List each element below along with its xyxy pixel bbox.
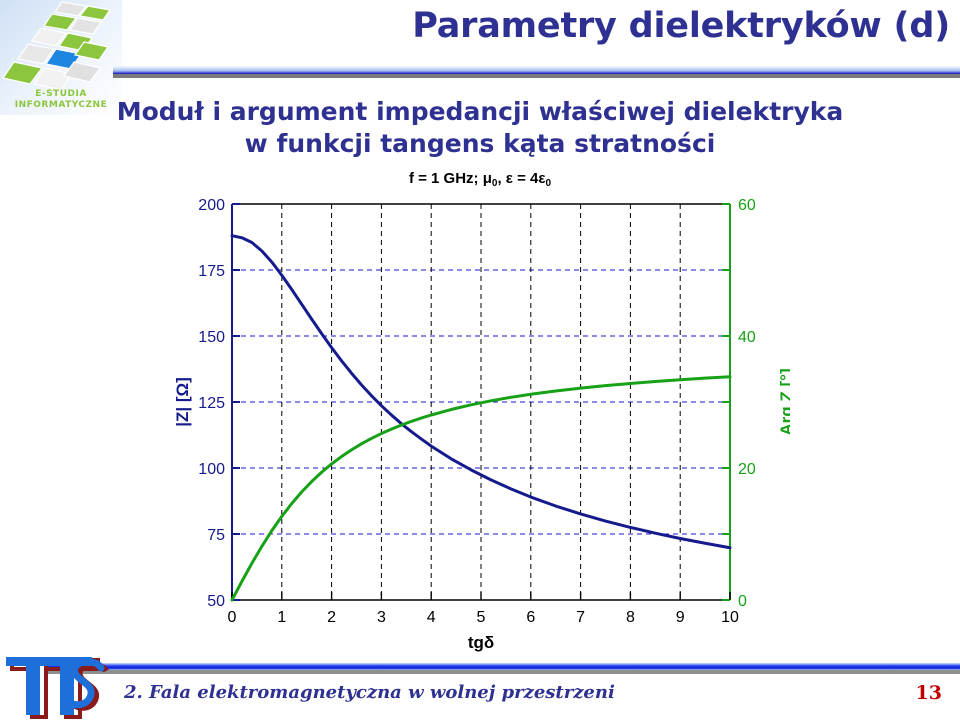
page-number: 13 [916,682,942,704]
svg-text:100: 100 [198,461,225,478]
slide-subtitle: Moduł i argument impedancji właściwej di… [60,96,900,160]
svg-text:7: 7 [576,609,585,626]
logo-tiles-icon [0,0,122,100]
svg-text:75: 75 [207,527,225,544]
header-divider-gray [113,74,960,78]
chart-title-p1: f = 1 GHz; [409,170,483,187]
footer-caption: 2. Fala elektromagnetyczna w wolnej prze… [124,682,824,703]
svg-text:5: 5 [477,609,486,626]
svg-text:4: 4 [427,609,436,626]
svg-text:3: 3 [377,609,386,626]
svg-text:60: 60 [738,197,756,214]
svg-text:50: 50 [207,593,225,610]
subtitle-line-1: Moduł i argument impedancji właściwej di… [60,96,900,128]
y-axis-right-label: Arg Z [°] [777,368,790,435]
svg-text:0: 0 [228,609,237,626]
tts-logo-icon [2,655,122,720]
svg-text:2: 2 [327,609,336,626]
svg-text:20: 20 [738,461,756,478]
subtitle-line-2: w funkcji tangens kąta stratności [60,128,900,160]
svg-text:0: 0 [738,593,747,610]
svg-text:8: 8 [626,609,635,626]
tts-logo [2,655,122,720]
svg-text:6: 6 [526,609,535,626]
chart-figure: f = 1 GHz; μ0, ε = 4ε0 50751001251501752… [170,170,790,650]
chart-title-mu: μ [483,170,492,187]
chart-title-eps: ε [506,170,513,187]
svg-text:10: 10 [721,609,739,626]
chart-plot: 50751001251501752000204060012345678910tg… [170,192,790,652]
chart-title-p2: , [497,170,505,187]
svg-text:200: 200 [198,197,225,214]
chart-title: f = 1 GHz; μ0, ε = 4ε0 [170,170,790,189]
chart-title-sub2: 0 [545,178,551,189]
svg-text:125: 125 [198,395,225,412]
page-title: Parametry dielektryków (d) [300,6,950,62]
header-divider [113,66,960,78]
chart-canvas: 50751001251501752000204060012345678910tg… [170,192,790,657]
x-axis-label: tgδ [468,633,494,652]
footer-divider-gray [45,670,960,674]
chart-title-p3: = 4 [513,170,538,187]
header-divider-gradient [113,66,960,74]
footer-divider [45,663,960,674]
slide: E-STUDIA INFORMATYCZNE Parametry dielekt… [0,0,960,720]
footer-divider-gradient [45,663,960,670]
svg-text:40: 40 [738,329,756,346]
svg-text:175: 175 [198,263,225,280]
svg-text:9: 9 [676,609,685,626]
svg-text:150: 150 [198,329,225,346]
y-axis-left-label: |Z| [Ω] [173,377,192,427]
svg-text:1: 1 [277,609,286,626]
